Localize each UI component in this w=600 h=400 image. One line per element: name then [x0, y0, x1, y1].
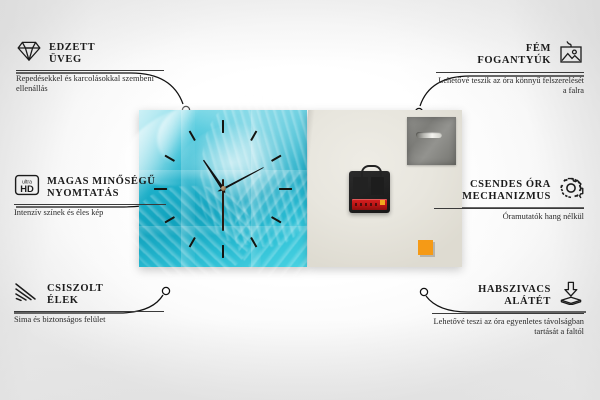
- divider: [432, 313, 584, 314]
- gear-icon: [558, 176, 584, 205]
- callout-tempered-glass: EDZETT ÜVEG Repedésekkel és karcolásokka…: [16, 40, 164, 95]
- callout-silent-mechanism: CSENDES ÓRA MECHANIZMUS Óramutatók hang …: [434, 176, 584, 222]
- callout-foam-pad: HABSZIVACS ALÁTÉT Lehetővé teszi az óra …: [432, 281, 584, 338]
- svg-text:HD: HD: [20, 183, 34, 194]
- metal-hanger-plate: [407, 117, 456, 165]
- movement-body: [371, 177, 384, 195]
- quartz-movement: [349, 171, 390, 213]
- glass-reflection: [181, 110, 195, 267]
- callout-title: MAGAS MINŐSÉGŰ NYOMTATÁS: [47, 176, 155, 199]
- foam-pad-icon: [558, 281, 584, 310]
- hanger-loop-icon: [361, 165, 382, 177]
- diamond-icon: [16, 40, 42, 67]
- callout-title: CSENDES ÓRA MECHANIZMUS: [462, 179, 551, 202]
- clock-center-cap: [221, 186, 226, 191]
- feather-pattern: [153, 96, 250, 178]
- callout-polished-edges: CSISZOLT ÉLEK Sima és biztonságos felüle…: [14, 281, 164, 325]
- divider: [434, 208, 584, 209]
- battery: [352, 199, 387, 210]
- callout-title: CSISZOLT ÉLEK: [47, 283, 103, 306]
- callout-subtitle: Sima és biztonságos felület: [14, 315, 164, 325]
- callout-title: HABSZIVACS ALÁTÉT: [478, 284, 551, 307]
- callout-title: FÉM FOGANTYÚK: [477, 43, 551, 66]
- polished-edge-icon: [14, 281, 40, 308]
- feather-pattern: [193, 90, 326, 252]
- product-image: [139, 110, 462, 267]
- callout-title: EDZETT ÜVEG: [49, 42, 95, 65]
- movement-body: [353, 177, 368, 193]
- infographic-canvas: EDZETT ÜVEG Repedésekkel és karcolásokka…: [0, 0, 600, 400]
- wall-hanger-icon: [558, 40, 584, 69]
- divider: [16, 70, 164, 71]
- ultra-hd-icon: ultra HD: [14, 174, 40, 201]
- callout-metal-handles: FÉM FOGANTYÚK Lehetővé teszik az óra kön…: [436, 40, 584, 97]
- callout-subtitle: Intenzív színek és éles kép: [14, 208, 166, 218]
- divider: [14, 204, 166, 205]
- foam-spacer-pad: [418, 240, 433, 255]
- callout-subtitle: Óramutatók hang nélkül: [434, 212, 584, 222]
- divider: [14, 311, 164, 312]
- callout-subtitle: Repedésekkel és karcolásokkal szembeni e…: [16, 74, 164, 95]
- divider: [436, 72, 584, 73]
- callout-high-quality-print: ultra HD MAGAS MINŐSÉGŰ NYOMTATÁS Intenz…: [14, 174, 166, 218]
- callout-subtitle: Lehetővé teszik az óra könnyű felszerelé…: [436, 76, 584, 97]
- callout-subtitle: Lehetővé teszi az óra egyenletes távolsá…: [432, 317, 584, 338]
